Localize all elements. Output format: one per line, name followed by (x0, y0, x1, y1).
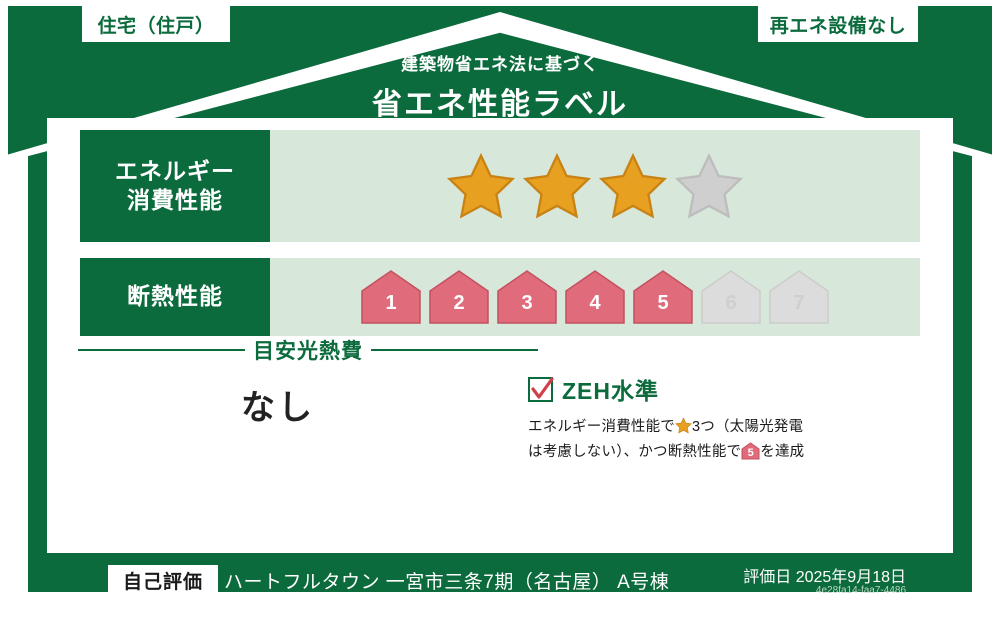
row-energy-body (270, 130, 920, 242)
heading-rule-right (371, 349, 538, 351)
insulation-grade-6: 6 (700, 269, 762, 325)
tag-renewable-energy: 再エネ設備なし (758, 6, 918, 42)
star-empty-icon (673, 151, 745, 221)
insulation-grade-4: 4 (564, 269, 626, 325)
title-subtitle: 建築物省エネ法に基づく (0, 50, 1000, 75)
evaluation-date: 評価日 2025年9月18日 (743, 563, 906, 587)
insulation-grade-3: 3 (496, 269, 558, 325)
insulation-grade-label: 2 (453, 292, 464, 325)
insulation-grade-2: 2 (428, 269, 490, 325)
insulation-grade-5: 5 (632, 269, 694, 325)
inline-grade-number: 5 (741, 444, 760, 463)
star-filled-icon (521, 151, 593, 221)
utility-cost-heading: 目安光熱費 (78, 335, 538, 365)
insulation-grade-scale: 1234567 (360, 269, 830, 325)
inline-grade-icon: 5 (741, 442, 760, 460)
row-energy-label-line1: エネルギー (115, 157, 235, 186)
row-energy-performance: エネルギー 消費性能 (80, 130, 920, 242)
insulation-grade-label: 1 (385, 292, 396, 325)
zeh-title: ZEH水準 (562, 372, 659, 406)
row-energy-label-line2: 消費性能 (127, 186, 223, 215)
zeh-desc-part4: を達成 (760, 444, 804, 460)
title-block: 建築物省エネ法に基づく 省エネ性能ラベル (0, 50, 1000, 123)
energy-performance-label: 住宅（住戸） 再エネ設備なし 建築物省エネ法に基づく 省エネ性能ラベル エネルギ… (0, 0, 1000, 618)
tag-building-type: 住宅（住戸） (82, 6, 230, 42)
row-insulation-label-text: 断熱性能 (127, 282, 223, 311)
evaluation-date-value: 2025年9月18日 (796, 569, 906, 586)
row-energy-label: エネルギー 消費性能 (80, 130, 270, 242)
zeh-description: エネルギー消費性能で3つ（太陽光発電 は考慮しない）、かつ断熱性能で5を達成 (528, 415, 898, 465)
insulation-grade-1: 1 (360, 269, 422, 325)
row-insulation-performance: 断熱性能 1234567 (80, 258, 920, 336)
star-filled-icon (597, 151, 669, 221)
heading-rule-left (78, 349, 245, 351)
evaluation-id: 4e28fa14-faa7-4486 (816, 585, 906, 596)
row-insulation-label: 断熱性能 (80, 258, 270, 336)
evaluation-date-label: 評価日 (743, 569, 791, 586)
zeh-desc-part2: 3つ（太陽光発電 (692, 419, 803, 435)
footer: 自己評価 ハートフルタウン 一宮市三条7期（名古屋） A号棟 評価日 2025年… (8, 553, 992, 612)
checkbox-checked-icon (528, 377, 553, 402)
zeh-block: ZEH水準 エネルギー消費性能で3つ（太陽光発電 は考慮しない）、かつ断熱性能で… (528, 372, 898, 465)
star-rating (445, 151, 745, 221)
page-title: 省エネ性能ラベル (0, 79, 1000, 123)
insulation-grade-label: 6 (725, 292, 736, 325)
building-name: ハートフルタウン 一宮市三条7期（名古屋） A号棟 (224, 567, 669, 594)
utility-cost-heading-text: 目安光熱費 (253, 335, 363, 365)
zeh-desc-part3: は考慮しない）、かつ断熱性能で (528, 444, 741, 460)
insulation-grade-label: 4 (589, 292, 600, 325)
insulation-grade-7: 7 (768, 269, 830, 325)
star-filled-icon (445, 151, 517, 221)
row-insulation-body: 1234567 (270, 258, 920, 336)
insulation-grade-label: 3 (521, 292, 532, 325)
zeh-desc-part1: エネルギー消費性能で (528, 419, 675, 435)
utility-cost-value: なし (78, 380, 478, 429)
insulation-grade-label: 7 (793, 292, 804, 325)
self-evaluation-badge: 自己評価 (108, 565, 218, 595)
inline-star-icon (675, 417, 692, 434)
insulation-grade-label: 5 (657, 292, 668, 325)
zeh-heading: ZEH水準 (528, 372, 898, 406)
